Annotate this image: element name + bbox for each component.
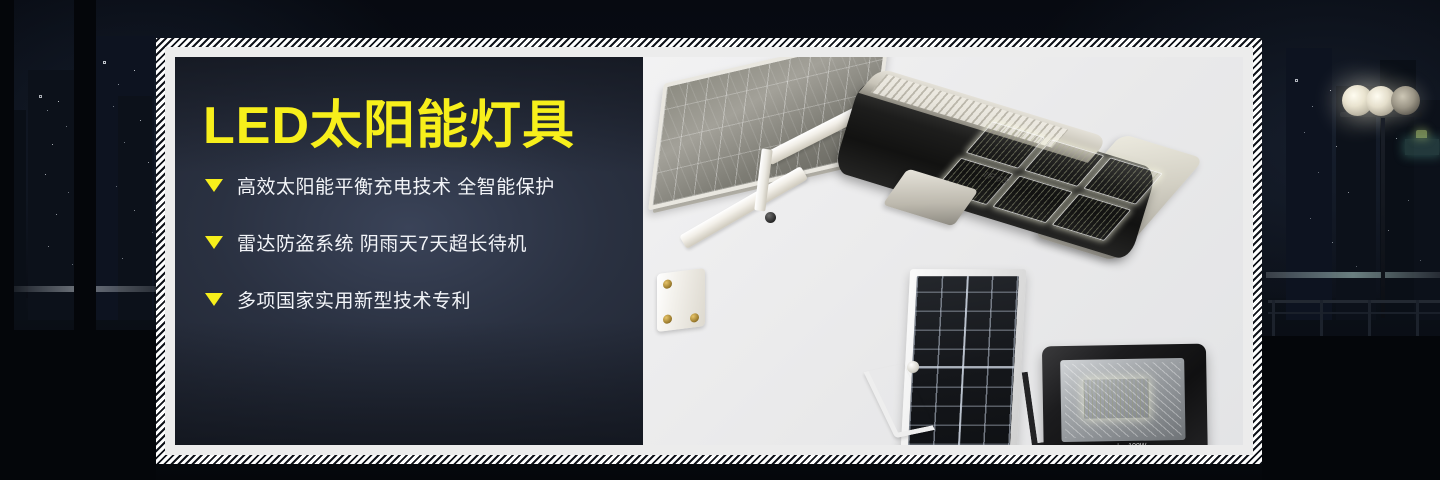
city-window-lights [1296, 80, 1297, 81]
label-divider [1117, 443, 1118, 445]
cob-led-chip [1083, 379, 1149, 419]
skyline-tower [1286, 48, 1332, 320]
triangle-down-icon [205, 293, 223, 306]
hatched-border-frame: LED太阳能灯具 高效太阳能平衡充电技术 全智能保护 雷达防盗系统 阴雨天7天超… [156, 38, 1262, 464]
railing-post [1416, 300, 1419, 336]
headline-panel: LED太阳能灯具 高效太阳能平衡充电技术 全智能保护 雷达防盗系统 阴雨天7天超… [175, 57, 643, 445]
city-window-lights [40, 96, 41, 97]
foreground-pillar [1262, 336, 1440, 480]
mount-bolt-icon [663, 314, 672, 324]
page-title: LED太阳能灯具 [203, 83, 575, 158]
foreground-pillar [0, 330, 156, 480]
railing-post [1320, 300, 1323, 336]
feature-list: 高效太阳能平衡充电技术 全智能保护 雷达防盗系统 阴雨天7天超长待机 多项国家实… [205, 171, 625, 342]
street-lamp-globe [1391, 86, 1420, 115]
triangle-down-icon [205, 236, 223, 249]
waterfront-light-strip [1266, 272, 1440, 278]
wattage-text: 100W [1128, 443, 1146, 445]
railing-post [1272, 300, 1275, 336]
motion-sensor-icon [765, 212, 776, 223]
floodlight-housing: Solar light 100W IP67 [1042, 344, 1208, 445]
neon-crown-icon [1416, 130, 1427, 138]
led-solar-lamp-banner: LED太阳能灯具 高效太阳能平衡充电技术 全智能保护 雷达防盗系统 阴雨天7天超… [0, 0, 1440, 480]
feature-text: 高效太阳能平衡充电技术 全智能保护 [237, 172, 555, 199]
city-window-lights [104, 62, 105, 63]
skyline-tower [1336, 86, 1376, 320]
list-item: 雷达防盗系统 阴雨天7天超长待机 [205, 228, 625, 256]
product-showcase-panel: IP65 [643, 57, 1243, 445]
wall-mount-plate [657, 268, 705, 332]
waterfront-railing [1268, 300, 1440, 303]
floodlight-reflector [1064, 362, 1181, 438]
panel-busbar [957, 276, 969, 445]
feature-text: 雷达防盗系统 阴雨天7天超长待机 [237, 229, 527, 256]
floodlight-specs: 100W IP67 [1128, 443, 1147, 445]
floodlight-bezel [1060, 358, 1185, 442]
neon-sign [1405, 139, 1439, 155]
street-lamp-pole [1381, 118, 1385, 318]
street-light-head: IP65 [824, 57, 1183, 296]
feature-text: 多项国家实用新型技术专利 [237, 286, 471, 313]
frame-inner-area: LED太阳能灯具 高效太阳能平衡充电技术 全智能保护 雷达防盗系统 阴雨天7天超… [165, 47, 1253, 455]
standalone-solar-panel-image [900, 269, 1027, 445]
solar-flood-light-image: Solar light 100W IP67 [1042, 344, 1208, 445]
mount-bolt-icon [690, 313, 699, 323]
floodlight-label: Solar light 100W IP67 [1062, 442, 1188, 445]
waterfront-railing [1268, 312, 1440, 314]
mount-bolt-icon [663, 279, 672, 289]
list-item: 高效太阳能平衡充电技术 全智能保护 [205, 171, 625, 199]
railing-post [1368, 300, 1371, 336]
list-item: 多项国家实用新型技术专利 [205, 285, 625, 313]
triangle-down-icon [205, 179, 223, 192]
